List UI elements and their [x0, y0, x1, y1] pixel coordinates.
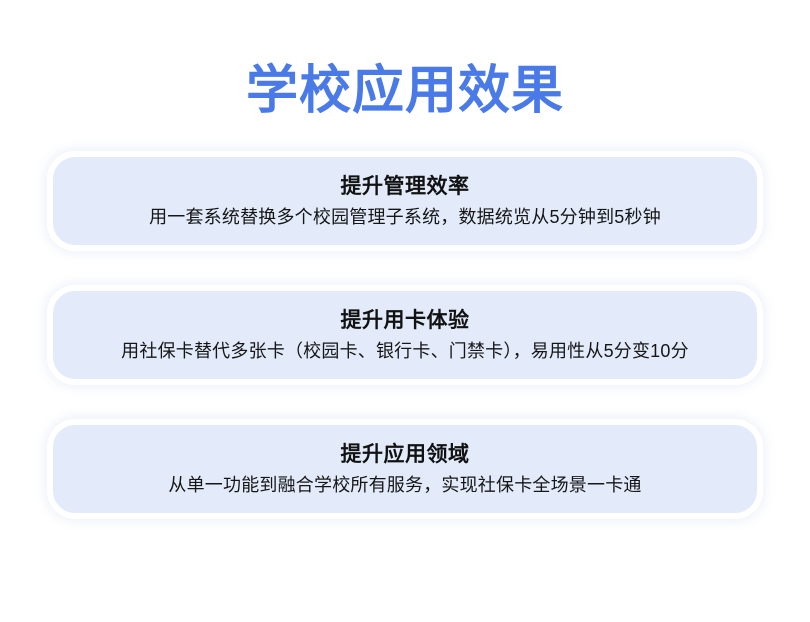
card-body-text: 用一套系统替换多个校园管理子系统，数据统览从5分钟到5秒钟 — [149, 205, 661, 230]
effect-card-list: 提升管理效率 用一套系统替换多个校园管理子系统，数据统览从5分钟到5秒钟 提升用… — [47, 151, 763, 519]
card-body-text: 从单一功能到融合学校所有服务，实现社保卡全场景一卡通 — [168, 473, 641, 498]
effect-card-application-scope: 提升应用领域 从单一功能到融合学校所有服务，实现社保卡全场景一卡通 — [47, 419, 763, 519]
card-body-text: 用社保卡替代多张卡（校园卡、银行卡、门禁卡），易用性从5分变10分 — [121, 339, 689, 364]
card-heading: 提升管理效率 — [341, 173, 470, 200]
school-application-effect-page: 学校应用效果 提升管理效率 用一套系统替换多个校园管理子系统，数据统览从5分钟到… — [0, 0, 810, 622]
card-heading: 提升应用领域 — [341, 441, 470, 468]
effect-card-management-efficiency: 提升管理效率 用一套系统替换多个校园管理子系统，数据统览从5分钟到5秒钟 — [47, 151, 763, 251]
page-title: 学校应用效果 — [0, 62, 810, 120]
card-heading: 提升用卡体验 — [341, 307, 470, 334]
effect-card-card-experience: 提升用卡体验 用社保卡替代多张卡（校园卡、银行卡、门禁卡），易用性从5分变10分 — [47, 285, 763, 385]
